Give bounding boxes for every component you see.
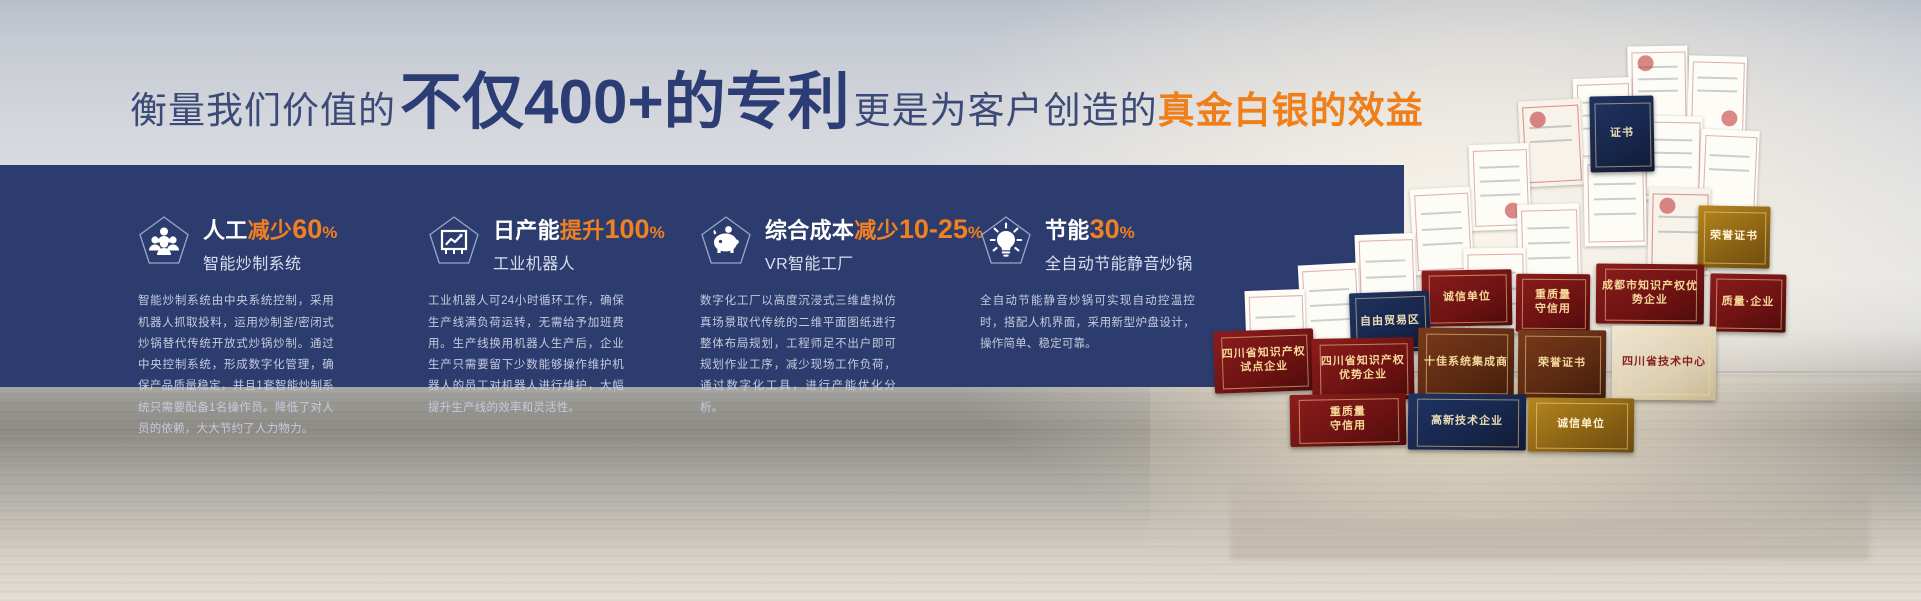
award-plaque: 成都市知识产权优势企业 <box>1596 264 1705 325</box>
feature-title: 日产能提升100% <box>493 215 665 243</box>
plaque-label: 诚信单位 <box>1439 291 1495 306</box>
feature-title-value: 30 <box>1090 214 1120 244</box>
piggy-bank-icon <box>700 215 752 267</box>
plaque-label: 荣誉证书 <box>1706 230 1762 245</box>
headline-emphasis: 不仅400+的专利 <box>400 72 850 134</box>
plaque-label: 质量·企业 <box>1718 296 1779 311</box>
plaque-label: 十佳系统集成商 <box>1420 356 1512 371</box>
headline-middle: 更是为客户创造的 <box>854 80 1158 134</box>
award-plaque: 高新技术企业 <box>1408 393 1526 450</box>
feature-title-unit: % <box>650 223 665 242</box>
award-plaque: 四川省知识产权优势企业 <box>1311 337 1414 401</box>
feature-title-unit: % <box>1120 223 1135 242</box>
award-plaque: 重质量 守信用 <box>1516 274 1591 333</box>
award-plaque: 四川省技术中心 <box>1612 326 1717 401</box>
feature-item-capacity: 日产能提升100% 工业机器人 工业机器人可24小时循环工作，确保生产线满负荷运… <box>428 165 700 387</box>
feature-title: 节能30% <box>1045 215 1193 243</box>
award-plaque: 十佳系统集成商 <box>1418 328 1515 399</box>
feature-subtitle: 工业机器人 <box>493 250 665 274</box>
feature-item-labor: 人工减少60% 智能炒制系统 智能炒制系统由中央系统控制，采用机器人抓取投料，运… <box>138 165 428 387</box>
feature-title-plain: 日产能 <box>493 218 560 243</box>
feature-subtitle: 全自动节能静音炒锅 <box>1045 250 1193 274</box>
plaque-label: 证书 <box>1606 127 1638 141</box>
banner-root: 衡量我们价值的 不仅400+的专利 更是为客户创造的 真金白银的效益 <box>0 0 1921 601</box>
feature-header: 日产能提升100% 工业机器人 <box>428 213 700 274</box>
plaque-label: 四川省知识产权优势企业 <box>1312 354 1414 383</box>
chart-board-icon <box>428 215 480 267</box>
feature-titles: 日产能提升100% 工业机器人 <box>493 213 665 274</box>
feature-title-hot: 减少 <box>854 218 899 243</box>
award-plaque: 四川省知识产权试点企业 <box>1213 328 1315 393</box>
headline-lead: 衡量我们价值的 <box>130 80 396 134</box>
plaque-label: 荣誉证书 <box>1534 357 1590 371</box>
plaque-label: 四川省知识产权试点企业 <box>1214 346 1315 377</box>
feature-title: 人工减少60% <box>203 215 338 243</box>
feature-titles: 人工减少60% 智能炒制系统 <box>203 213 338 274</box>
feature-title-value: 60 <box>292 214 322 244</box>
feature-item-cost: 综合成本减少10-25% VR智能工厂 数字化工厂以高度沉浸式三维虚拟仿真场景取… <box>700 165 980 387</box>
feature-title-hot: 提升 <box>560 218 605 243</box>
feature-title-plain: 综合成本 <box>765 218 854 243</box>
feature-title-value: 100 <box>605 214 650 244</box>
plaque-label: 重质量 守信用 <box>1531 289 1575 317</box>
feature-header: 人工减少60% 智能炒制系统 <box>138 213 428 274</box>
lightbulb-icon <box>980 215 1032 267</box>
feature-title-unit: % <box>322 223 337 242</box>
award-plaque: 荣誉证书 <box>1518 330 1607 399</box>
feature-titles: 综合成本减少10-25% VR智能工厂 <box>765 213 983 274</box>
plaque-label: 高新技术企业 <box>1427 415 1507 429</box>
feature-title-plain: 人工 <box>203 218 248 243</box>
award-plaque: 重质量 守信用 <box>1290 393 1407 447</box>
award-plaque: 诚信单位 <box>1528 398 1634 453</box>
plaque-label: 四川省技术中心 <box>1618 356 1710 371</box>
feature-subtitle: 智能炒制系统 <box>203 250 338 274</box>
plaque-label: 诚信单位 <box>1553 418 1609 432</box>
award-plaque: 证书 <box>1589 95 1654 172</box>
people-group-icon <box>138 215 190 267</box>
feature-description: 工业机器人可24小时循环工作，确保生产线满负荷运转，无需给予加班费用。生产线换用… <box>428 291 624 419</box>
feature-title-value: 10-25 <box>899 214 968 244</box>
feature-subtitle: VR智能工厂 <box>765 250 983 274</box>
feature-title-hot: 减少 <box>248 218 293 243</box>
feature-header: 综合成本减少10-25% VR智能工厂 <box>700 213 980 274</box>
feature-title-plain: 节能 <box>1045 218 1090 243</box>
certificate-wall: 证书 荣誉证书 诚信单位 重质量 守信用 成都市知识产权优势企业 质量·企业 自… <box>1180 38 1921 508</box>
plaque-label: 重质量 守信用 <box>1326 406 1370 434</box>
feature-description: 全自动节能静音炒锅可实现自动控温控时，搭配人机界面，采用新型炉盘设计，操作简单、… <box>980 291 1195 355</box>
feature-description: 数字化工厂以高度沉浸式三维虚拟仿真场景取代传统的二维平面图纸进行整体布局规划，工… <box>700 291 896 419</box>
plaque-label: 成都市知识产权优势企业 <box>1596 280 1704 308</box>
award-plaque: 诚信单位 <box>1422 269 1513 327</box>
feature-title: 综合成本减少10-25% <box>765 215 983 243</box>
award-plaque: 质量·企业 <box>1709 273 1786 332</box>
award-plaque: 荣誉证书 <box>1697 205 1770 268</box>
feature-description: 智能炒制系统由中央系统控制，采用机器人抓取投料，运用炒制釜/密闭式炒锅替代传统开… <box>138 291 334 440</box>
plaque-label: 自由贸易区 <box>1356 314 1424 330</box>
feature-titles: 节能30% 全自动节能静音炒锅 <box>1045 213 1193 274</box>
